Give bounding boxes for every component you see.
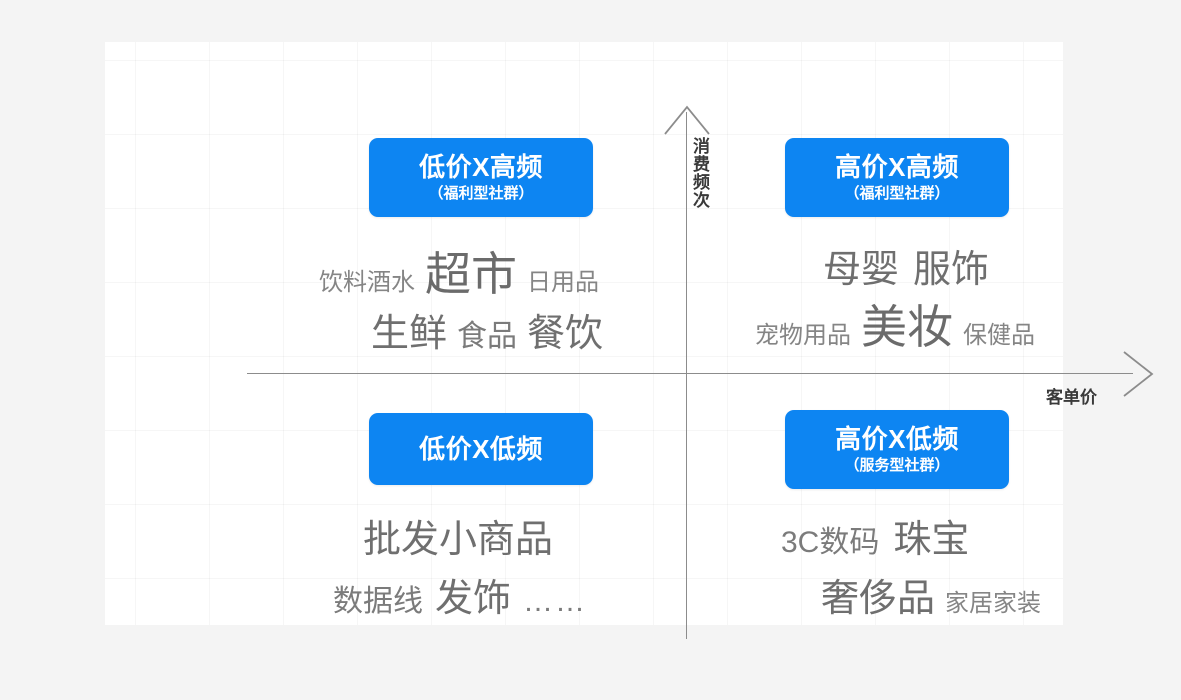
cloud-term: 服饰 <box>913 238 989 293</box>
arrow-right-icon <box>1121 350 1155 398</box>
y-axis-label: 消费频次 <box>693 138 715 210</box>
arrow-up-icon <box>663 104 711 136</box>
cloud-term: 3C数码 <box>781 517 879 561</box>
cloud-term: 批发小商品 <box>363 508 553 563</box>
cloud-term: 奢侈品 <box>821 567 935 622</box>
word-cloud-bottom-right: 3C数码 珠宝 奢侈品 家居家装 <box>781 508 1101 622</box>
cloud-term: 家居家装 <box>945 583 1041 618</box>
quadrant-badge-bottom-left[interactable]: 低价X低频 <box>369 413 593 485</box>
word-cloud-top-right: 母婴 服饰 宠物用品 美妆 保健品 <box>755 238 1075 357</box>
x-axis-line <box>247 373 1133 374</box>
cloud-term: 生鲜 <box>371 302 447 357</box>
cloud-term-ellipsis: …… <box>523 585 587 619</box>
cloud-term: 美妆 <box>861 291 953 357</box>
cloud-term: 食品 <box>457 311 517 355</box>
cloud-term: 珠宝 <box>893 508 969 563</box>
quadrant-badge-bottom-right[interactable]: 高价X低频 （服务型社群） <box>785 410 1009 489</box>
x-axis-label: 客单价 <box>1046 383 1097 408</box>
cloud-term: 饮料酒水 <box>319 262 415 297</box>
y-axis-line <box>686 112 687 639</box>
word-cloud-bottom-left: 批发小商品 数据线 发饰 …… <box>333 508 653 622</box>
cloud-term: 数据线 <box>333 576 423 620</box>
word-cloud-top-left: 饮料酒水 超市 日用品 生鲜 食品 餐饮 <box>319 238 639 357</box>
cloud-term: 保健品 <box>963 315 1035 350</box>
badge-title: 低价X低频 <box>419 436 543 462</box>
badge-title: 高价X高频 <box>835 152 959 183</box>
quadrant-badge-top-left[interactable]: 低价X高频 （福利型社群） <box>369 138 593 217</box>
cloud-term: 发饰 <box>435 567 511 622</box>
quadrant-matrix-stage: 消费频次 客单价 低价X高频 （福利型社群） 高价X高频 （福利型社群） 低价X… <box>0 0 1181 700</box>
badge-subtitle: （服务型社群） <box>844 456 949 476</box>
badge-title: 低价X高频 <box>419 152 543 183</box>
quadrant-badge-top-right[interactable]: 高价X高频 （福利型社群） <box>785 138 1009 217</box>
cloud-term: 日用品 <box>527 262 599 297</box>
cloud-term: 宠物用品 <box>755 315 851 350</box>
diagram-card: 消费频次 客单价 低价X高频 （福利型社群） 高价X高频 （福利型社群） 低价X… <box>105 42 1063 625</box>
badge-subtitle: （福利型社群） <box>428 184 533 204</box>
badge-subtitle: （福利型社群） <box>844 184 949 204</box>
cloud-term: 餐饮 <box>527 302 603 357</box>
badge-title: 高价X低频 <box>835 424 959 455</box>
cloud-term: 超市 <box>425 238 517 304</box>
cloud-term: 母婴 <box>823 238 899 293</box>
